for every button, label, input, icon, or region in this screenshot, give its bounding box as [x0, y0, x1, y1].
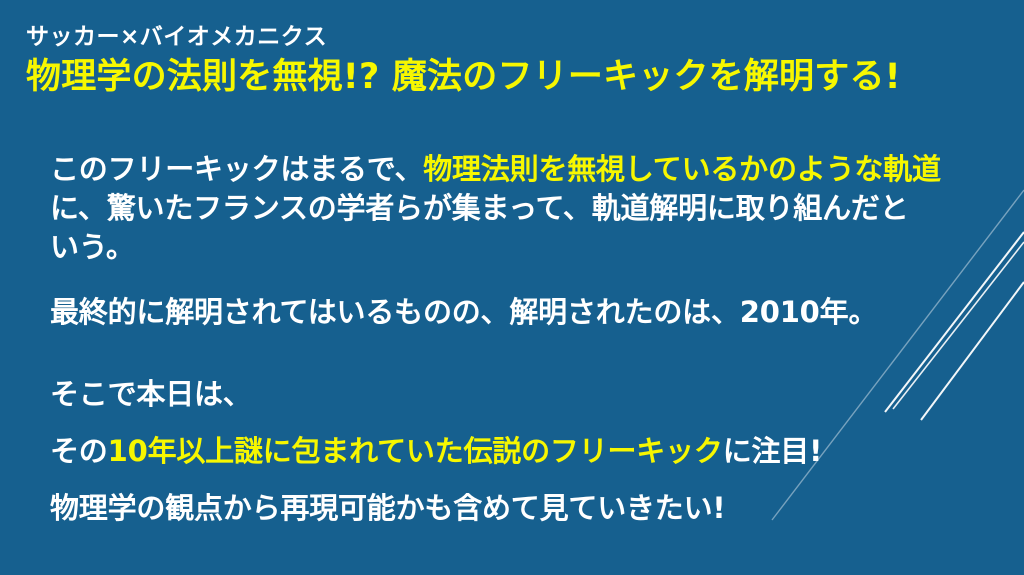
paragraph-4-line-1: その10年以上謎に包まれていた伝説のフリーキックに注目! — [50, 432, 995, 471]
paragraph-1-line-2: に、驚いたフランスの学者らが集まって、軌道解明に取り組んだと — [50, 189, 995, 228]
slide-title: 物理学の法則を無視!? 魔法のフリーキックを解明する! — [26, 56, 996, 98]
body-paragraph-2: 最終的に解明されてはいるものの、解明されたのは、2010年。 — [50, 293, 995, 332]
paragraph-4-plain-a: その — [50, 434, 108, 468]
spacer-3 — [50, 414, 995, 432]
paragraph-1-line-1-highlight: 物理法則を無視しているかのような軌道 — [423, 152, 941, 186]
slide-canvas: サッカー×バイオメカニクス 物理学の法則を無視!? 魔法のフリーキックを解明する… — [0, 0, 1024, 575]
slide-header: サッカー×バイオメカニクス 物理学の法則を無視!? 魔法のフリーキックを解明する… — [26, 24, 996, 98]
body-paragraph-1: このフリーキックはまるで、物理法則を無視しているかのような軌道 に、驚いたフラン… — [50, 150, 995, 267]
spacer-1 — [50, 267, 995, 293]
body-paragraph-3: そこで本日は、 — [50, 375, 995, 414]
body-paragraph-5: 物理学の観点から再現可能かも含めて見ていきたい! — [50, 489, 995, 528]
spacer-2 — [50, 331, 995, 375]
paragraph-2-line-1: 最終的に解明されてはいるものの、解明されたのは、2010年。 — [50, 293, 995, 332]
paragraph-3-line-1: そこで本日は、 — [50, 375, 995, 414]
slide-body: このフリーキックはまるで、物理法則を無視しているかのような軌道 に、驚いたフラン… — [50, 150, 995, 528]
slide-subtitle: サッカー×バイオメカニクス — [26, 24, 996, 50]
paragraph-4-highlight: 10年以上謎に包まれていた伝説のフリーキック — [108, 434, 723, 468]
paragraph-1-line-1-plain: このフリーキックはまるで、 — [50, 152, 423, 186]
paragraph-4-plain-b: に注目! — [723, 434, 822, 468]
paragraph-5-line-1: 物理学の観点から再現可能かも含めて見ていきたい! — [50, 489, 995, 528]
body-paragraph-4: その10年以上謎に包まれていた伝説のフリーキックに注目! — [50, 432, 995, 471]
spacer-4 — [50, 471, 995, 489]
paragraph-1-line-1: このフリーキックはまるで、物理法則を無視しているかのような軌道 — [50, 150, 995, 189]
paragraph-1-line-3: いう。 — [50, 228, 995, 267]
